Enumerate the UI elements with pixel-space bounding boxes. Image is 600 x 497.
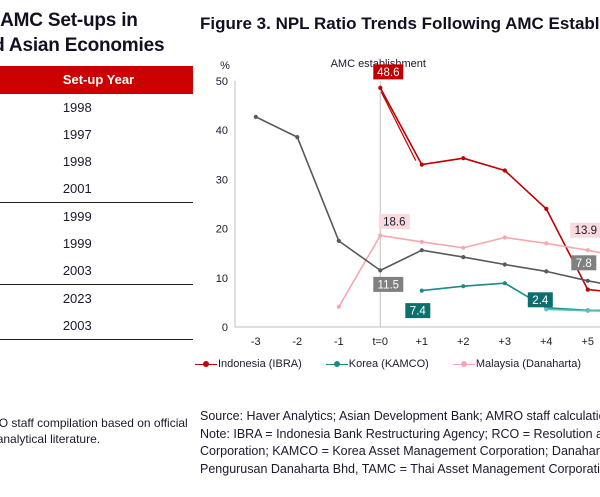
cell-setup-year: 1999 [51,203,193,231]
table-row: Thailand2001 [0,175,193,203]
table-row: Indonesia1998 [0,94,193,121]
table-header-row: Country Set-up Year [0,66,193,94]
cell-country: Indonesia [0,94,51,121]
column-header-country: Country [0,66,51,94]
legend-item[interactable]: Korea (KAMCO) [326,358,429,370]
x-tick-label: -3 [251,336,261,348]
cell-setup-year: 2023 [51,285,193,313]
column-header-setup-year: Set-up Year [51,66,193,94]
cell-country: Philippines [0,312,51,340]
table-row: Philippines2003 [0,312,193,340]
npl-line-chart: % AMC establishment 01020304050 -3-2-1t=… [195,55,600,355]
series-point [544,269,548,273]
data-label: 7.8 [571,255,596,270]
series-point [337,305,341,309]
legend-item[interactable]: Malaysia (Danaharta) [453,358,581,370]
data-label: 11.5 [373,277,403,292]
series-point [503,262,507,266]
x-tick-label: t=0 [372,336,388,348]
series-point [461,246,465,250]
table-row: India1999 [0,230,193,257]
series-point [586,309,590,313]
footnote-line: Source: Haver Analytics; Asian Developme… [200,408,600,426]
y-tick-label: 40 [216,125,228,137]
table-title: Table 2. AMC Set-ups in Selected Asian E… [0,8,193,58]
legend-marker-icon [453,360,475,369]
data-label: 48.6 [373,64,403,79]
footnote-line: Corporation; KAMCO = Korea Asset Managem… [200,443,600,461]
series-line [422,283,600,311]
series-point [378,268,382,272]
x-tick-label: +5 [581,336,594,348]
cell-setup-year: 1997 [51,121,193,148]
legend-label: Malaysia (Danaharta) [476,358,581,370]
figure-panel: Figure 3. NPL Ratio Trends Following AMC… [195,0,600,497]
cell-country: Viet Nam [0,257,51,285]
data-label-text: 7.4 [410,306,427,318]
series-point [378,86,382,90]
cell-setup-year: 2003 [51,257,193,285]
y-tick-label: 20 [216,224,228,236]
data-label-text: 2.4 [532,295,549,307]
cell-country: China [0,203,51,231]
series-point [544,207,548,211]
data-label-text: 13.9 [575,225,597,237]
legend-label: Korea (KAMCO) [349,358,429,370]
x-axis-ticks: -3-2-1t=0+1+2+3+4+5+6 [251,336,600,348]
cell-country: Lao PDR [0,285,51,313]
cell-setup-year: 2001 [51,175,193,203]
cell-setup-year: 2003 [51,312,193,340]
legend-label: Indonesia (IBRA) [218,358,302,370]
data-label-text: 7.8 [576,258,592,270]
series-point [503,281,507,285]
table-row: Viet Nam2003 [0,257,193,285]
cell-country: Korea [0,121,51,148]
left-table-panel: Table 2. AMC Set-ups in Selected Asian E… [0,0,195,497]
series-point [420,289,424,293]
data-label: 18.6 [379,214,410,229]
data-label-layer: 48.66.87.42.418.613.911.57.8 [373,64,600,318]
x-tick-label: +1 [415,336,428,348]
data-label-text: 11.5 [378,279,400,291]
table-body: Indonesia1998Korea1997Malaysia1998Thaila… [0,94,193,340]
data-label-text: 18.6 [383,217,405,229]
data-label: 13.9 [570,223,600,238]
x-tick-label: +2 [457,336,470,348]
series-point [503,235,507,239]
chart-svg: % AMC establishment 01020304050 -3-2-1t=… [195,55,600,355]
legend-item[interactable]: Indonesia (IBRA) [195,358,302,370]
series-point [420,248,424,252]
y-tick-label: 0 [222,322,228,334]
series-point [337,239,341,243]
cell-country: Malaysia [0,148,51,175]
data-label: 2.4 [528,292,553,307]
table-row: Lao PDR2023 [0,285,193,313]
data-label: 7.4 [405,303,430,318]
figure-title: Figure 3. NPL Ratio Trends Following AMC… [200,14,600,34]
y-axis-ticks: 01020304050 [216,76,228,334]
table-source-note: Source: AMRO staff compilation based on … [0,415,195,447]
series-point [378,233,382,237]
data-label-text: 48.6 [377,67,399,79]
series-point [420,163,424,167]
series-line [339,236,600,307]
figure-footnotes: Source: Haver Analytics; Asian Developme… [200,408,600,478]
series-point [461,255,465,259]
cell-setup-year: 1998 [51,94,193,121]
table-row: Korea1997 [0,121,193,148]
cell-country: India [0,230,51,257]
series-point [586,288,590,292]
table-row: China1999 [0,203,193,231]
amc-setup-table: Country Set-up Year Indonesia1998Korea19… [0,66,193,340]
series-point [461,284,465,288]
table-row: Malaysia1998 [0,148,193,175]
x-tick-label: +4 [540,336,553,348]
series-layer [254,86,600,314]
x-tick-label: -2 [292,336,302,348]
series-point [586,279,590,283]
x-tick-label: -1 [334,336,344,348]
series-point [461,156,465,160]
y-axis-unit-label: % [220,60,230,72]
y-tick-label: 10 [216,273,228,285]
cell-setup-year: 1999 [51,230,193,257]
legend-marker-icon [326,360,348,369]
series-point [544,307,548,311]
cell-country: Thailand [0,175,51,203]
series-point [420,240,424,244]
series-point [586,248,590,252]
legend-marker-icon [195,360,217,369]
series-point [503,168,507,172]
series-point [295,135,299,139]
series-point [254,115,258,119]
series-point [544,241,548,245]
label-leader-line [381,92,416,161]
series-line [256,117,600,289]
cell-setup-year: 1998 [51,148,193,175]
y-tick-label: 30 [216,174,228,186]
x-tick-label: +3 [498,336,511,348]
chart-legend: Indonesia (IBRA)Korea (KAMCO)Malaysia (D… [195,358,600,378]
footnote-line: Note: IBRA = Indonesia Bank Restructurin… [200,426,600,444]
y-tick-label: 50 [216,76,228,88]
footnote-line: Pengurusan Danaharta Bhd, TAMC = Thai As… [200,461,600,479]
